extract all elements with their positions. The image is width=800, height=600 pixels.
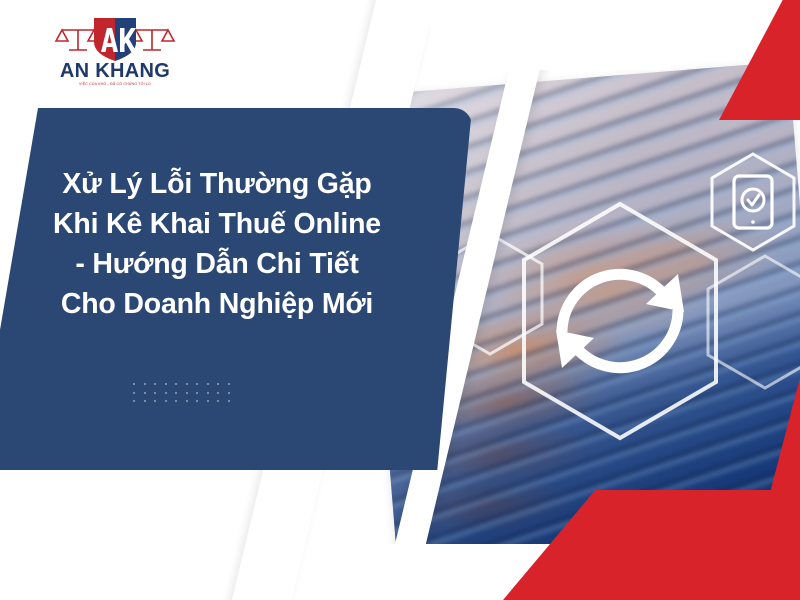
dot xyxy=(228,383,230,385)
dot xyxy=(217,392,219,394)
logo-tagline: VIỆC CỦA KHÓ - ĐÃ CÓ CHÚNG TÔI LO xyxy=(54,82,176,87)
scales-of-justice-icon-right xyxy=(130,30,174,50)
dot xyxy=(144,392,146,394)
dot xyxy=(133,383,135,385)
dot xyxy=(186,392,188,394)
dot xyxy=(207,392,209,394)
dot xyxy=(217,383,219,385)
shield-scales-icon xyxy=(54,14,176,62)
dot-grid-decor xyxy=(133,383,238,409)
dot xyxy=(186,383,188,385)
dot xyxy=(144,383,146,385)
dot xyxy=(175,400,177,402)
logo-brand-name: AN KHANG xyxy=(54,61,176,82)
dot xyxy=(165,392,167,394)
title-line-4: Cho Doanh Nghiệp Mới xyxy=(34,284,400,324)
dot xyxy=(175,383,177,385)
title-line-3: - Hướng Dẫn Chi Tiết xyxy=(34,244,400,284)
dot xyxy=(196,383,198,385)
title-line-1: Xử Lý Lỗi Thường Gặp xyxy=(34,164,400,204)
banner-title: Xử Lý Lỗi Thường Gặp Khi Kê Khai Thuế On… xyxy=(34,164,400,324)
dot xyxy=(217,400,219,402)
dot xyxy=(154,383,156,385)
dot xyxy=(207,383,209,385)
dot xyxy=(165,383,167,385)
dot xyxy=(196,400,198,402)
top-white-mask xyxy=(430,0,670,70)
dot xyxy=(165,400,167,402)
dot xyxy=(175,392,177,394)
title-line-2: Khi Kê Khai Thuế Online xyxy=(34,204,400,244)
logo-mark xyxy=(54,14,176,62)
dot xyxy=(228,392,230,394)
dot xyxy=(144,400,146,402)
dot xyxy=(133,400,135,402)
dot xyxy=(196,392,198,394)
brand-logo[interactable]: AN KHANG VIỆC CỦA KHÓ - ĐÃ CÓ CHÚNG TÔI … xyxy=(54,14,176,90)
dot xyxy=(207,400,209,402)
dot xyxy=(154,392,156,394)
dot xyxy=(133,392,135,394)
dot xyxy=(228,400,230,402)
scales-of-justice-icon xyxy=(56,30,100,50)
dot xyxy=(186,400,188,402)
banner-canvas: Xử Lý Lỗi Thường Gặp Khi Kê Khai Thuế On… xyxy=(0,0,800,600)
dot xyxy=(154,400,156,402)
